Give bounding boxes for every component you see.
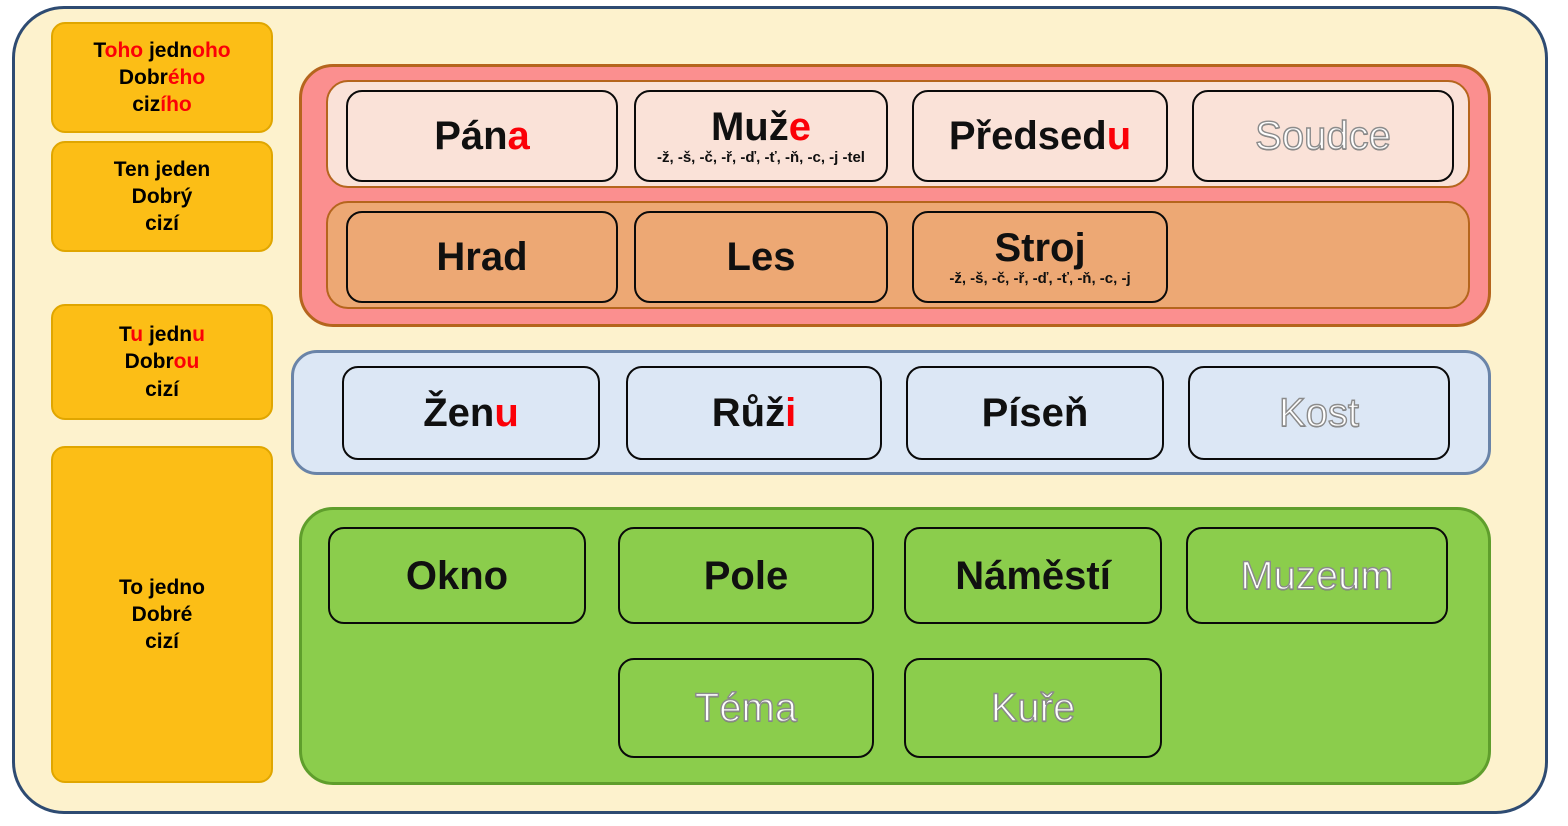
word-card-kure[interactable]: Kuře	[904, 658, 1162, 758]
word-text: Pán	[434, 114, 507, 158]
hollow-word: Kost	[1279, 391, 1359, 435]
section-masculine: Pána Muže-ž, -š, -č, -ř, -ď, -ť, -ň, -c,…	[299, 64, 1491, 327]
word-text: T	[93, 39, 104, 62]
card-word: Kost	[1279, 392, 1359, 434]
card-subtitle: -ž, -š, -č, -ř, -ď, -ť, -ň, -c, -j	[949, 270, 1130, 287]
word-card-pisen[interactable]: Píseň	[906, 366, 1164, 460]
accent-letters: i	[785, 391, 796, 435]
word-text: Les	[727, 235, 796, 279]
word-card-muze[interactable]: Muže-ž, -š, -č, -ř, -ď, -ť, -ň, -c, -j -…	[634, 90, 888, 182]
accent-letters: u	[130, 323, 143, 346]
accent-letters: oho	[192, 39, 230, 62]
band-masculine-inanimate: Hrad Les Stroj-ž, -š, -č, -ř, -ď, -ť, -ň…	[326, 201, 1470, 309]
accent-letters: a	[508, 114, 530, 158]
word-card-ruzi[interactable]: Růži	[626, 366, 882, 460]
gender-label-line-2: cizího	[132, 91, 192, 118]
card-word: Hrad	[436, 236, 527, 278]
card-word: Kuře	[991, 687, 1076, 729]
word-text: cizí	[145, 378, 179, 401]
section-feminine: Ženu Růži Píseň Kost	[291, 350, 1491, 475]
word-text: To jedno	[119, 576, 205, 599]
gender-label-masculine-inanimate: Ten jedenDobrýcizí	[51, 141, 273, 252]
word-card-predsedu[interactable]: Předsedu	[912, 90, 1168, 182]
accent-letters: u	[1107, 114, 1131, 158]
word-card-soudce[interactable]: Soudce	[1192, 90, 1454, 182]
card-word: Píseň	[982, 392, 1089, 434]
word-text: Růž	[712, 391, 785, 435]
word-text: Předsed	[949, 114, 1107, 158]
word-text: Náměstí	[955, 554, 1111, 598]
card-word: Pole	[704, 555, 788, 597]
word-text: Okno	[406, 554, 508, 598]
accent-letters: ího	[160, 93, 192, 116]
card-word: Ženu	[423, 392, 519, 434]
section-neuter: Okno Pole Náměstí Muzeum Téma Kuře	[299, 507, 1491, 785]
word-card-hrad[interactable]: Hrad	[346, 211, 618, 303]
gender-label-line-1: Dobrou	[125, 348, 200, 375]
word-text: Píseň	[982, 391, 1089, 435]
card-word: Muzeum	[1240, 555, 1393, 597]
card-word: Okno	[406, 555, 508, 597]
gender-label-line-0: To jedno	[119, 574, 205, 601]
card-word: Téma	[695, 687, 797, 729]
word-text: Muž	[711, 105, 789, 149]
word-text: jedn	[143, 323, 192, 346]
word-card-pana[interactable]: Pána	[346, 90, 618, 182]
word-text: ciz	[132, 93, 160, 116]
word-card-zenu[interactable]: Ženu	[342, 366, 600, 460]
word-card-stroj[interactable]: Stroj-ž, -š, -č, -ř, -ď, -ť, -ň, -c, -j	[912, 211, 1168, 303]
accent-letters: u	[494, 391, 518, 435]
word-card-namesti[interactable]: Náměstí	[904, 527, 1162, 624]
word-card-tema[interactable]: Téma	[618, 658, 874, 758]
word-text: Žen	[423, 391, 494, 435]
gender-label-line-2: cizí	[145, 210, 179, 237]
word-text: Hrad	[436, 235, 527, 279]
accent-letters: ou	[174, 350, 200, 373]
gender-label-line-1: Dobrý	[132, 183, 193, 210]
word-text: Pole	[704, 554, 788, 598]
gender-label-line-0: Toho jednoho	[93, 37, 230, 64]
gender-label-masculine-animate: Toho jednohoDobréhocizího	[51, 22, 273, 133]
accent-letters: u	[192, 323, 205, 346]
word-card-muzeum[interactable]: Muzeum	[1186, 527, 1448, 624]
card-subtitle: -ž, -š, -č, -ř, -ď, -ť, -ň, -c, -j -tel	[657, 149, 865, 166]
word-text: cizí	[145, 212, 179, 235]
word-text: T	[119, 323, 130, 346]
word-text: Dobré	[132, 603, 193, 626]
word-text: jedn	[143, 39, 192, 62]
gender-label-line-0: Tu jednu	[119, 321, 205, 348]
gender-label-line-1: Dobrého	[119, 64, 205, 91]
gender-label-feminine: Tu jednuDobroucizí	[51, 304, 273, 420]
word-card-okno[interactable]: Okno	[328, 527, 586, 624]
hollow-word: Kuře	[991, 686, 1076, 730]
gender-label-line-2: cizí	[145, 628, 179, 655]
gender-label-line-2: cizí	[145, 376, 179, 403]
word-card-les[interactable]: Les	[634, 211, 888, 303]
word-card-kost[interactable]: Kost	[1188, 366, 1450, 460]
accent-letters: oho	[105, 39, 143, 62]
card-word: Soudce	[1255, 115, 1391, 157]
band-masculine-animate: Pána Muže-ž, -š, -č, -ř, -ď, -ť, -ň, -c,…	[326, 80, 1470, 188]
gender-label-line-0: Ten jeden	[114, 156, 210, 183]
card-word: Růži	[712, 392, 796, 434]
hollow-word: Soudce	[1255, 114, 1391, 158]
word-text: cizí	[145, 630, 179, 653]
word-text: Dobr	[125, 350, 174, 373]
card-word: Pána	[434, 115, 530, 157]
word-text: Dobr	[119, 66, 168, 89]
card-word: Les	[727, 236, 796, 278]
card-word: Muže	[711, 106, 811, 148]
card-word: Předsedu	[949, 115, 1131, 157]
hollow-word: Téma	[695, 686, 797, 730]
gender-label-neuter: To jednoDobrécizí	[51, 446, 273, 783]
accent-letters: ého	[168, 66, 205, 89]
word-text: Ten jeden	[114, 158, 210, 181]
word-text: Dobrý	[132, 185, 193, 208]
card-word: Náměstí	[955, 555, 1111, 597]
word-text: Stroj	[994, 226, 1085, 270]
hollow-word: Muzeum	[1240, 554, 1393, 598]
accent-letters: e	[789, 105, 811, 149]
word-card-pole[interactable]: Pole	[618, 527, 874, 624]
card-word: Stroj	[994, 227, 1085, 269]
gender-label-line-1: Dobré	[132, 601, 193, 628]
diagram-frame: Toho jednohoDobréhocizího Ten jedenDobrý…	[12, 6, 1548, 814]
